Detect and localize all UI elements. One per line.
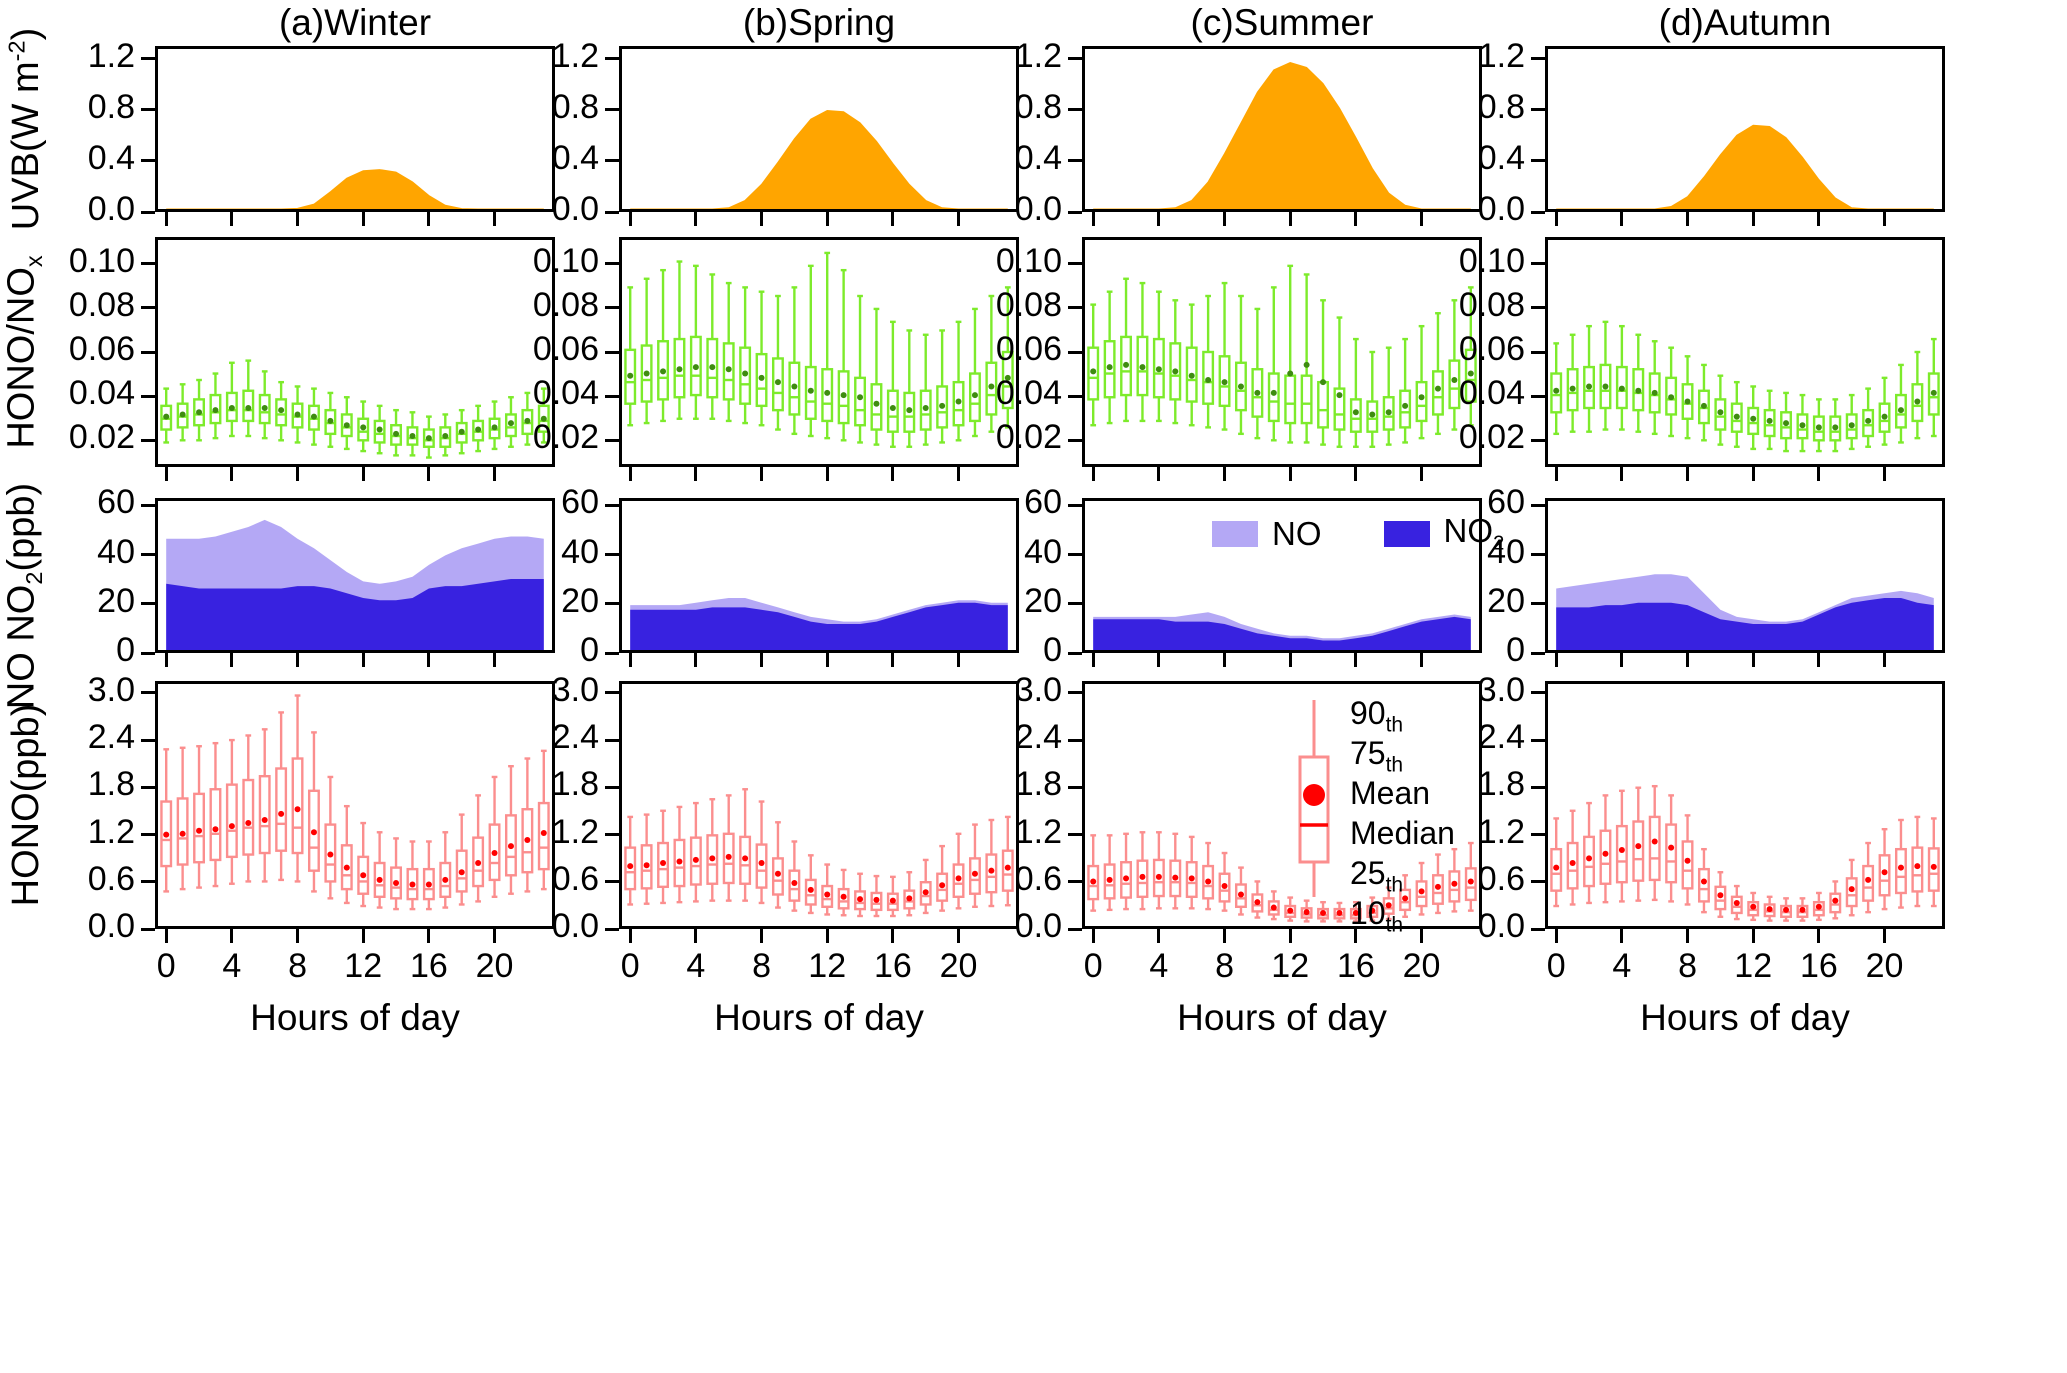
ytick-label: 0.10 — [451, 242, 599, 281]
xtick-mark — [493, 467, 496, 481]
ytick-mark — [1068, 602, 1082, 605]
xtick-mark — [1620, 653, 1623, 667]
ytick-label: 2.4 — [914, 718, 1062, 757]
panel-title-autumn: (d)Autumn — [1545, 2, 1945, 44]
xtick-mark — [1555, 929, 1558, 943]
ytick-mark — [605, 739, 619, 742]
xtick-mark — [629, 653, 632, 667]
xtick-mark — [957, 467, 960, 481]
ytick-mark — [605, 553, 619, 556]
ytick-mark — [141, 504, 155, 507]
ytick-mark — [1531, 691, 1545, 694]
ytick-mark — [141, 833, 155, 836]
ytick-label: 0 — [0, 631, 135, 670]
ytick-label: 0.0 — [1377, 190, 1525, 229]
xtick-mark — [1289, 929, 1292, 943]
ytick-label: 0.0 — [914, 190, 1062, 229]
xtick-mark — [1752, 212, 1755, 226]
xtick-mark — [1686, 929, 1689, 943]
xtick-mark — [1752, 653, 1755, 667]
xtick-mark — [230, 467, 233, 481]
xtick-mark — [427, 653, 430, 667]
xtick-mark — [826, 467, 829, 481]
xtick-mark — [1817, 467, 1820, 481]
ytick-mark — [1068, 351, 1082, 354]
ytick-label: 0.02 — [0, 418, 135, 457]
xtick-mark — [230, 929, 233, 943]
xtick-mark — [694, 929, 697, 943]
legend-swatch-no2 — [1384, 521, 1430, 547]
ytick-label: 20 — [914, 582, 1062, 621]
ytick-mark — [1531, 211, 1545, 214]
ytick-label: 0.04 — [914, 374, 1062, 413]
ytick-mark — [605, 351, 619, 354]
ytick-label: 60 — [451, 483, 599, 522]
ytick-mark — [1068, 439, 1082, 442]
ytick-mark — [605, 833, 619, 836]
ytick-label: 0.0 — [0, 190, 135, 229]
ytick-label: 1.2 — [0, 37, 135, 76]
ytick-mark — [605, 108, 619, 111]
boxplot-legend-item: 75th — [1350, 737, 1455, 777]
panel-no-no2-autumn — [1545, 498, 1945, 653]
xtick-mark — [230, 653, 233, 667]
ytick-mark — [605, 928, 619, 931]
ytick-label: 0.02 — [914, 418, 1062, 457]
boxplot-legend-value: 90 — [1350, 695, 1386, 731]
xtick-mark — [891, 929, 894, 943]
xtick-mark — [694, 467, 697, 481]
ytick-mark — [1068, 739, 1082, 742]
legend-label-no: NO — [1272, 515, 1322, 553]
xtick-mark — [629, 467, 632, 481]
legend-label-no2: NO2 — [1444, 512, 1505, 556]
ytick-label: 0.0 — [914, 907, 1062, 946]
ytick-mark — [1068, 211, 1082, 214]
ytick-label: 1.2 — [451, 813, 599, 852]
xtick-mark — [1883, 467, 1886, 481]
figure-root: (a)Winter(b)Spring(c)Summer(d)AutumnUVB(… — [0, 0, 2067, 1373]
xtick-mark — [891, 467, 894, 481]
ytick-mark — [605, 880, 619, 883]
ytick-mark — [1068, 553, 1082, 556]
xtick-mark — [760, 212, 763, 226]
ytick-label: 0 — [914, 631, 1062, 670]
xaxis-title-autumn: Hours of day — [1545, 997, 1945, 1039]
ytick-mark — [605, 652, 619, 655]
ytick-mark — [1068, 262, 1082, 265]
xtick-mark — [1157, 653, 1160, 667]
ytick-label: 60 — [914, 483, 1062, 522]
xtick-mark — [1289, 212, 1292, 226]
ytick-label: 0.10 — [1377, 242, 1525, 281]
ytick-label: 0.6 — [0, 860, 135, 899]
xtick-mark — [1686, 653, 1689, 667]
ytick-label: 0.10 — [0, 242, 135, 281]
xtick-mark — [362, 467, 365, 481]
ytick-mark — [141, 691, 155, 694]
xtick-mark — [1092, 212, 1095, 226]
boxplot-legend-item: 90th — [1350, 697, 1455, 737]
xtick-mark — [1686, 212, 1689, 226]
xtick-mark — [1223, 212, 1226, 226]
boxplot-legend-suffix: th — [1386, 913, 1404, 936]
boxplot-legend-item: Mean — [1350, 777, 1455, 817]
ytick-label: 0.08 — [914, 286, 1062, 325]
ytick-label: 20 — [451, 582, 599, 621]
xtick-label: 20 — [455, 947, 535, 986]
ytick-mark — [1068, 652, 1082, 655]
ytick-mark — [1531, 108, 1545, 111]
xtick-mark — [1555, 653, 1558, 667]
ytick-mark — [1531, 306, 1545, 309]
boxplot-legend-labels: 90th75thMeanMedian25th10th — [1350, 697, 1455, 937]
panel-uvb-autumn — [1545, 46, 1945, 212]
xtick-mark — [1289, 467, 1292, 481]
ytick-mark — [1531, 833, 1545, 836]
ytick-label: 20 — [0, 582, 135, 621]
ytick-mark — [141, 553, 155, 556]
ytick-mark — [141, 928, 155, 931]
ytick-mark — [1068, 108, 1082, 111]
ytick-label: 0.08 — [0, 286, 135, 325]
boxplot-legend-value: 25 — [1350, 855, 1386, 891]
xtick-mark — [296, 467, 299, 481]
ytick-label: 0.10 — [914, 242, 1062, 281]
xtick-mark — [1420, 467, 1423, 481]
ytick-label: 40 — [0, 533, 135, 572]
xtick-mark — [1752, 467, 1755, 481]
ytick-mark — [605, 786, 619, 789]
xtick-mark — [362, 653, 365, 667]
xtick-label: 20 — [1382, 947, 1462, 986]
xtick-mark — [1883, 212, 1886, 226]
boxplot-legend-item: Median — [1350, 817, 1455, 857]
ytick-label: 3.0 — [914, 671, 1062, 710]
ytick-label: 1.8 — [451, 765, 599, 804]
xtick-mark — [1223, 467, 1226, 481]
ytick-mark — [141, 306, 155, 309]
ytick-label: 0.8 — [0, 88, 135, 127]
xtick-mark — [1883, 929, 1886, 943]
ytick-label: 1.2 — [914, 37, 1062, 76]
xtick-mark — [760, 929, 763, 943]
panel-hono-nox-autumn — [1545, 237, 1945, 467]
ytick-label: 1.2 — [451, 37, 599, 76]
ytick-mark — [605, 262, 619, 265]
xtick-mark — [230, 212, 233, 226]
xtick-mark — [1555, 212, 1558, 226]
ytick-mark — [141, 880, 155, 883]
boxplot-legend-value: 75 — [1350, 735, 1386, 771]
ytick-label: 0.08 — [451, 286, 599, 325]
ytick-mark — [1068, 833, 1082, 836]
ytick-mark — [141, 108, 155, 111]
xtick-mark — [1354, 212, 1357, 226]
ytick-mark — [1068, 691, 1082, 694]
ytick-label: 0.0 — [451, 190, 599, 229]
ytick-mark — [141, 739, 155, 742]
ytick-label: 0.4 — [451, 139, 599, 178]
ytick-label: 3.0 — [0, 671, 135, 710]
ytick-mark — [1531, 553, 1545, 556]
ytick-label: 0.06 — [1377, 330, 1525, 369]
ytick-mark — [605, 395, 619, 398]
boxplot-legend-value: 10 — [1350, 895, 1386, 931]
xtick-mark — [1883, 653, 1886, 667]
xtick-mark — [1817, 653, 1820, 667]
ytick-label: 0.8 — [451, 88, 599, 127]
xtick-mark — [1620, 212, 1623, 226]
ytick-mark — [1068, 880, 1082, 883]
ytick-label: 0.06 — [451, 330, 599, 369]
ytick-mark — [605, 211, 619, 214]
legend-no-no2: NONO2 — [1212, 512, 1504, 556]
ytick-label: 40 — [451, 533, 599, 572]
ytick-label: 40 — [914, 533, 1062, 572]
ytick-mark — [141, 159, 155, 162]
ytick-mark — [141, 395, 155, 398]
ytick-mark — [1531, 439, 1545, 442]
xtick-mark — [165, 653, 168, 667]
xtick-mark — [1817, 929, 1820, 943]
ytick-mark — [1531, 786, 1545, 789]
ytick-label: 0.0 — [451, 907, 599, 946]
ytick-mark — [1531, 395, 1545, 398]
ytick-mark — [141, 786, 155, 789]
xtick-mark — [1555, 467, 1558, 481]
ytick-label: 2.4 — [451, 718, 599, 757]
ytick-label: 0.06 — [0, 330, 135, 369]
ytick-mark — [1531, 739, 1545, 742]
ytick-mark — [141, 439, 155, 442]
xtick-mark — [826, 212, 829, 226]
ytick-label: 0.4 — [1377, 139, 1525, 178]
xtick-label: 20 — [919, 947, 999, 986]
ytick-label: 0 — [451, 631, 599, 670]
ytick-label: 0.04 — [0, 374, 135, 413]
xtick-mark — [1157, 467, 1160, 481]
ytick-label: 1.2 — [0, 813, 135, 852]
ytick-mark — [141, 211, 155, 214]
ytick-label: 1.2 — [1377, 37, 1525, 76]
ytick-mark — [1068, 159, 1082, 162]
ytick-mark — [1531, 602, 1545, 605]
xtick-mark — [1752, 929, 1755, 943]
xtick-mark — [362, 929, 365, 943]
xtick-mark — [891, 653, 894, 667]
ytick-label: 0.8 — [1377, 88, 1525, 127]
xtick-mark — [1620, 467, 1623, 481]
panel-hono-autumn — [1545, 681, 1945, 929]
ytick-label: 0.4 — [0, 139, 135, 178]
xtick-mark — [427, 467, 430, 481]
ytick-label: 0.4 — [914, 139, 1062, 178]
ytick-mark — [1531, 351, 1545, 354]
boxplot-legend-value: Mean — [1350, 775, 1430, 811]
xtick-mark — [826, 929, 829, 943]
ytick-label: 0.02 — [1377, 418, 1525, 457]
xtick-mark — [165, 929, 168, 943]
xtick-mark — [1223, 653, 1226, 667]
ytick-mark — [141, 262, 155, 265]
xtick-mark — [1686, 467, 1689, 481]
xaxis-title-spring: Hours of day — [619, 997, 1019, 1039]
ytick-mark — [1531, 928, 1545, 931]
ytick-mark — [1068, 306, 1082, 309]
ytick-mark — [141, 57, 155, 60]
ytick-mark — [1068, 504, 1082, 507]
xtick-mark — [1157, 929, 1160, 943]
xtick-mark — [1354, 467, 1357, 481]
ytick-label: 0.6 — [451, 860, 599, 899]
xtick-mark — [296, 653, 299, 667]
xtick-mark — [165, 212, 168, 226]
ytick-mark — [141, 351, 155, 354]
xtick-mark — [165, 467, 168, 481]
ytick-label: 0.02 — [451, 418, 599, 457]
ytick-mark — [141, 602, 155, 605]
ytick-mark — [1068, 786, 1082, 789]
ytick-label: 0.06 — [914, 330, 1062, 369]
xtick-mark — [629, 212, 632, 226]
xtick-mark — [296, 212, 299, 226]
xtick-mark — [362, 212, 365, 226]
ytick-mark — [1068, 57, 1082, 60]
ytick-mark — [1531, 57, 1545, 60]
xtick-label: 20 — [1845, 947, 1925, 986]
xtick-mark — [760, 467, 763, 481]
boxplot-legend-item: 25th — [1350, 857, 1455, 897]
ytick-label: 2.4 — [0, 718, 135, 757]
ytick-mark — [605, 57, 619, 60]
ytick-label: 1.8 — [914, 765, 1062, 804]
boxplot-legend-value: Median — [1350, 815, 1455, 851]
ytick-mark — [1531, 652, 1545, 655]
boxplot-legend-suffix: th — [1386, 753, 1404, 776]
ytick-mark — [1068, 928, 1082, 931]
xtick-mark — [1092, 653, 1095, 667]
xtick-mark — [427, 929, 430, 943]
ytick-mark — [605, 159, 619, 162]
xtick-mark — [694, 212, 697, 226]
ytick-mark — [1068, 395, 1082, 398]
ytick-label: 0.0 — [0, 907, 135, 946]
xtick-mark — [1092, 467, 1095, 481]
ytick-mark — [1531, 504, 1545, 507]
ytick-mark — [1531, 262, 1545, 265]
ytick-label: 20 — [1377, 582, 1525, 621]
ytick-label: 0.6 — [914, 860, 1062, 899]
ytick-label: 0.08 — [1377, 286, 1525, 325]
xtick-mark — [1620, 929, 1623, 943]
xtick-mark — [296, 929, 299, 943]
ytick-mark — [1531, 880, 1545, 883]
ytick-label: 1.8 — [0, 765, 135, 804]
xtick-mark — [1223, 929, 1226, 943]
xaxis-title-summer: Hours of day — [1082, 997, 1482, 1039]
xtick-mark — [1817, 212, 1820, 226]
boxplot-legend-suffix: th — [1386, 713, 1404, 736]
xtick-mark — [1092, 929, 1095, 943]
xtick-mark — [1354, 653, 1357, 667]
ytick-label: 0.04 — [1377, 374, 1525, 413]
ytick-label: 0.8 — [914, 88, 1062, 127]
ytick-mark — [141, 652, 155, 655]
legend-swatch-no — [1212, 521, 1258, 547]
xaxis-title-winter: Hours of day — [155, 997, 555, 1039]
xtick-mark — [760, 653, 763, 667]
ytick-label: 60 — [0, 483, 135, 522]
xtick-mark — [694, 653, 697, 667]
ytick-mark — [605, 439, 619, 442]
ytick-mark — [605, 602, 619, 605]
ytick-label: 3.0 — [451, 671, 599, 710]
boxplot-legend-item: 10th — [1350, 897, 1455, 937]
boxplot-legend-suffix: th — [1386, 873, 1404, 896]
ytick-label: 0.04 — [451, 374, 599, 413]
xtick-mark — [1289, 653, 1292, 667]
xtick-mark — [1157, 212, 1160, 226]
xtick-mark — [826, 653, 829, 667]
xtick-mark — [629, 929, 632, 943]
ytick-label: 1.2 — [914, 813, 1062, 852]
xtick-mark — [427, 212, 430, 226]
ytick-mark — [605, 691, 619, 694]
ytick-mark — [605, 306, 619, 309]
ytick-mark — [605, 504, 619, 507]
ytick-mark — [1531, 159, 1545, 162]
ytick-label: 0 — [1377, 631, 1525, 670]
xtick-mark — [891, 212, 894, 226]
